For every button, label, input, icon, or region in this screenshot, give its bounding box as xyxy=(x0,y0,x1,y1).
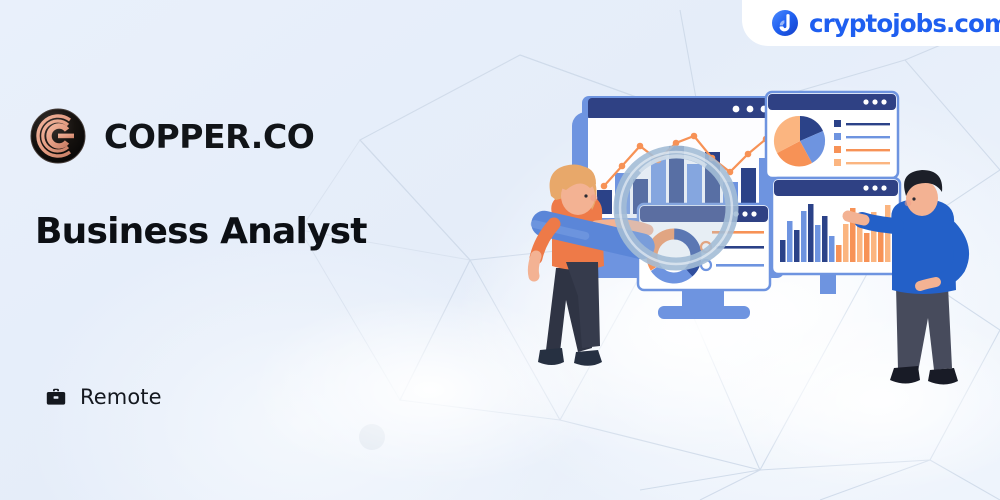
cryptojobs-brand-badge[interactable]: cryptojobs.com xyxy=(742,0,1000,46)
magnifier-lens xyxy=(620,152,732,264)
company-name: COPPER.CO xyxy=(104,117,314,156)
job-location-label: Remote xyxy=(80,385,162,409)
job-info-column: COPPER.CO Business Analyst Remote xyxy=(0,0,470,500)
copper-circle-logo-icon xyxy=(30,108,86,164)
briefcase-icon xyxy=(46,388,66,406)
cryptojobs-brand-name: cryptojobs.com xyxy=(809,9,1000,38)
dense-bar-panel xyxy=(772,178,900,294)
cryptojobs-droplet-icon xyxy=(772,10,798,36)
pie-chart xyxy=(774,116,825,167)
job-location-row: Remote xyxy=(46,385,162,409)
company-row: COPPER.CO xyxy=(30,108,314,164)
job-title: Business Analyst xyxy=(35,211,367,252)
job-listing-banner: COPPER.CO Business Analyst Remote xyxy=(0,0,1000,500)
